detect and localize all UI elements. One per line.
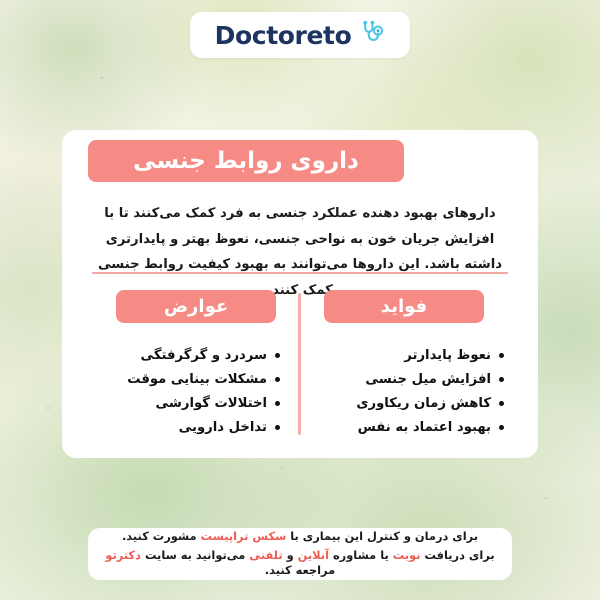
sex-therapist-link[interactable]: سکس تراپیست	[201, 529, 287, 543]
list-item-label: بهبود اعتماد به نفس	[358, 421, 491, 434]
footer-text: مراجعه کنید.	[265, 563, 335, 577]
list-item: مشکلات بینایی موقت	[100, 369, 280, 390]
footer-text: یا مشاوره	[329, 548, 393, 562]
online-consult-link[interactable]: آنلاین	[298, 548, 329, 562]
list-item: بهبود اعتماد به نفس	[314, 417, 504, 438]
phone-consult-link[interactable]: تلفنی	[249, 548, 282, 562]
bullet-icon	[499, 425, 504, 430]
list-item: نعوظ پایدارتر	[314, 345, 504, 366]
list-item-label: اختلالات گوارشی	[156, 397, 267, 410]
appointment-link[interactable]: نوبت	[393, 548, 421, 562]
benefits-list: نعوظ پایدارتر افزایش میل جنسی کاهش زمان …	[314, 345, 504, 441]
benefits-heading: فواید	[324, 290, 484, 323]
brand-logo: Doctoreto	[190, 12, 410, 58]
horizontal-divider	[92, 272, 508, 274]
footer-text: برای درمان و کنترل این بیماری با	[286, 529, 478, 543]
list-item-label: سردرد و گرگرفتگی	[141, 349, 267, 362]
bullet-icon	[499, 377, 504, 382]
brand-name: Doctoreto	[215, 21, 352, 50]
footer-text: برای دریافت	[420, 548, 494, 562]
footer-line-2: برای دریافت نوبت یا مشاوره آنلاین و تلفن…	[88, 548, 512, 579]
list-item-label: نعوظ پایدارتر	[404, 349, 491, 362]
side-effects-heading: عوارض	[116, 290, 276, 323]
footer-line-1: برای درمان و کنترل این بیماری با سکس ترا…	[122, 529, 478, 544]
intro-paragraph: داروهای بهبود دهنده عملکرد جنسی به فرد ک…	[92, 201, 508, 304]
list-item: افزایش میل جنسی	[314, 369, 504, 390]
footer-cta-card: برای درمان و کنترل این بیماری با سکس ترا…	[88, 528, 512, 580]
bullet-icon	[499, 353, 504, 358]
bullet-icon	[275, 377, 280, 382]
list-item: سردرد و گرگرفتگی	[100, 345, 280, 366]
stethoscope-icon	[359, 20, 385, 51]
list-item-label: مشکلات بینایی موقت	[127, 373, 267, 386]
list-item: اختلالات گوارشی	[100, 393, 280, 414]
vertical-divider	[298, 293, 301, 435]
list-item: کاهش زمان ریکاوری	[314, 393, 504, 414]
bullet-icon	[275, 401, 280, 406]
doctoreto-site-link[interactable]: دکترتو	[105, 548, 141, 562]
list-item-label: افزایش میل جنسی	[365, 373, 491, 386]
page-title: داروی روابط جنسی	[88, 140, 404, 182]
bullet-icon	[275, 353, 280, 358]
side-effects-list: سردرد و گرگرفتگی مشکلات بینایی موقت اختل…	[100, 345, 280, 441]
bullet-icon	[275, 425, 280, 430]
footer-text: مشورت کنید.	[122, 529, 201, 543]
list-item-label: تداخل دارویی	[179, 421, 267, 434]
list-item-label: کاهش زمان ریکاوری	[356, 397, 491, 410]
list-item: تداخل دارویی	[100, 417, 280, 438]
bullet-icon	[499, 401, 504, 406]
footer-text: و	[283, 548, 298, 562]
footer-text: می‌توانید به سایت	[141, 548, 249, 562]
